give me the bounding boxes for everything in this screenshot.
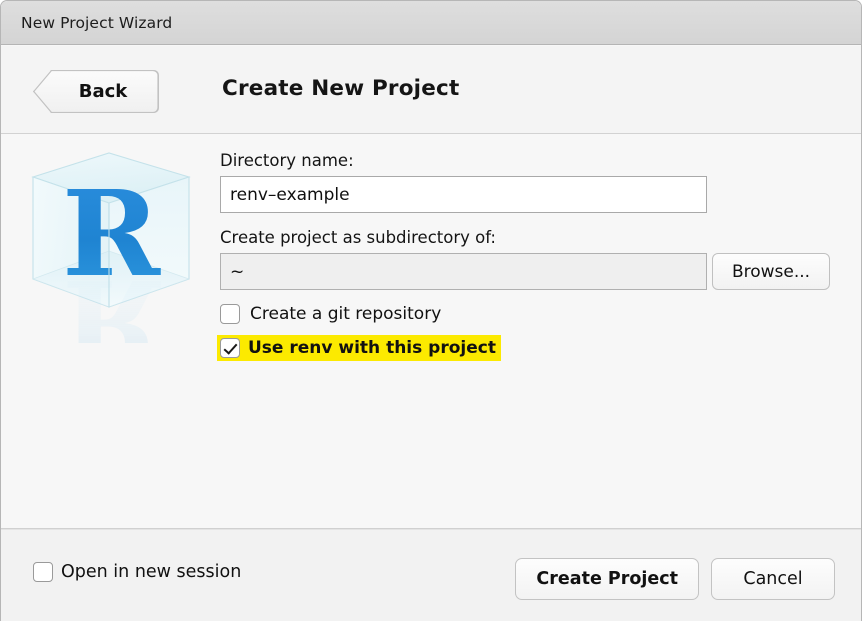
subdirectory-field-group: Create project as subdirectory of: Brows… [220, 228, 835, 290]
open-in-new-session-label: Open in new session [61, 562, 241, 582]
directory-name-field-group: Directory name: [220, 151, 835, 213]
wizard-body: R R Directory name: Create project as su… [1, 135, 861, 529]
directory-name-label: Directory name: [220, 151, 835, 171]
project-form: Directory name: Create project as subdir… [220, 151, 835, 361]
browse-button-label: Browse... [732, 262, 810, 282]
new-project-wizard-window: New Project Wizard Back Create New Proje… [0, 0, 862, 621]
wizard-footer: Open in new session Create Project Cance… [1, 529, 861, 621]
browse-button[interactable]: Browse... [712, 253, 830, 290]
use-renv-checkbox[interactable] [220, 338, 240, 358]
use-renv-label: Use renv with this project [248, 338, 496, 358]
open-in-new-session-checkbox[interactable] [33, 562, 53, 582]
create-project-button-label: Create Project [536, 569, 678, 589]
back-button-label: Back [79, 81, 128, 102]
window-title: New Project Wizard [1, 14, 172, 32]
back-button[interactable]: Back [33, 70, 159, 113]
directory-name-input[interactable] [220, 176, 707, 213]
use-renv-option-row[interactable]: Use renv with this project [217, 335, 501, 361]
r-project-cube-icon: R R [23, 147, 199, 343]
git-repository-label: Create a git repository [250, 304, 441, 324]
subdirectory-input[interactable] [220, 253, 707, 290]
subdirectory-label: Create project as subdirectory of: [220, 228, 835, 248]
git-repository-checkbox[interactable] [220, 304, 240, 324]
cancel-button[interactable]: Cancel [711, 558, 835, 600]
page-title: Create New Project [222, 76, 459, 101]
window-titlebar: New Project Wizard [1, 1, 861, 45]
wizard-header: Back Create New Project [1, 46, 861, 134]
open-in-new-session-row[interactable]: Open in new session [33, 562, 241, 582]
footer-button-group: Create Project Cancel [515, 558, 835, 600]
svg-text:R: R [62, 253, 161, 343]
cancel-button-label: Cancel [743, 569, 802, 589]
git-repository-option-row[interactable]: Create a git repository [220, 304, 441, 324]
create-project-button[interactable]: Create Project [515, 558, 699, 600]
